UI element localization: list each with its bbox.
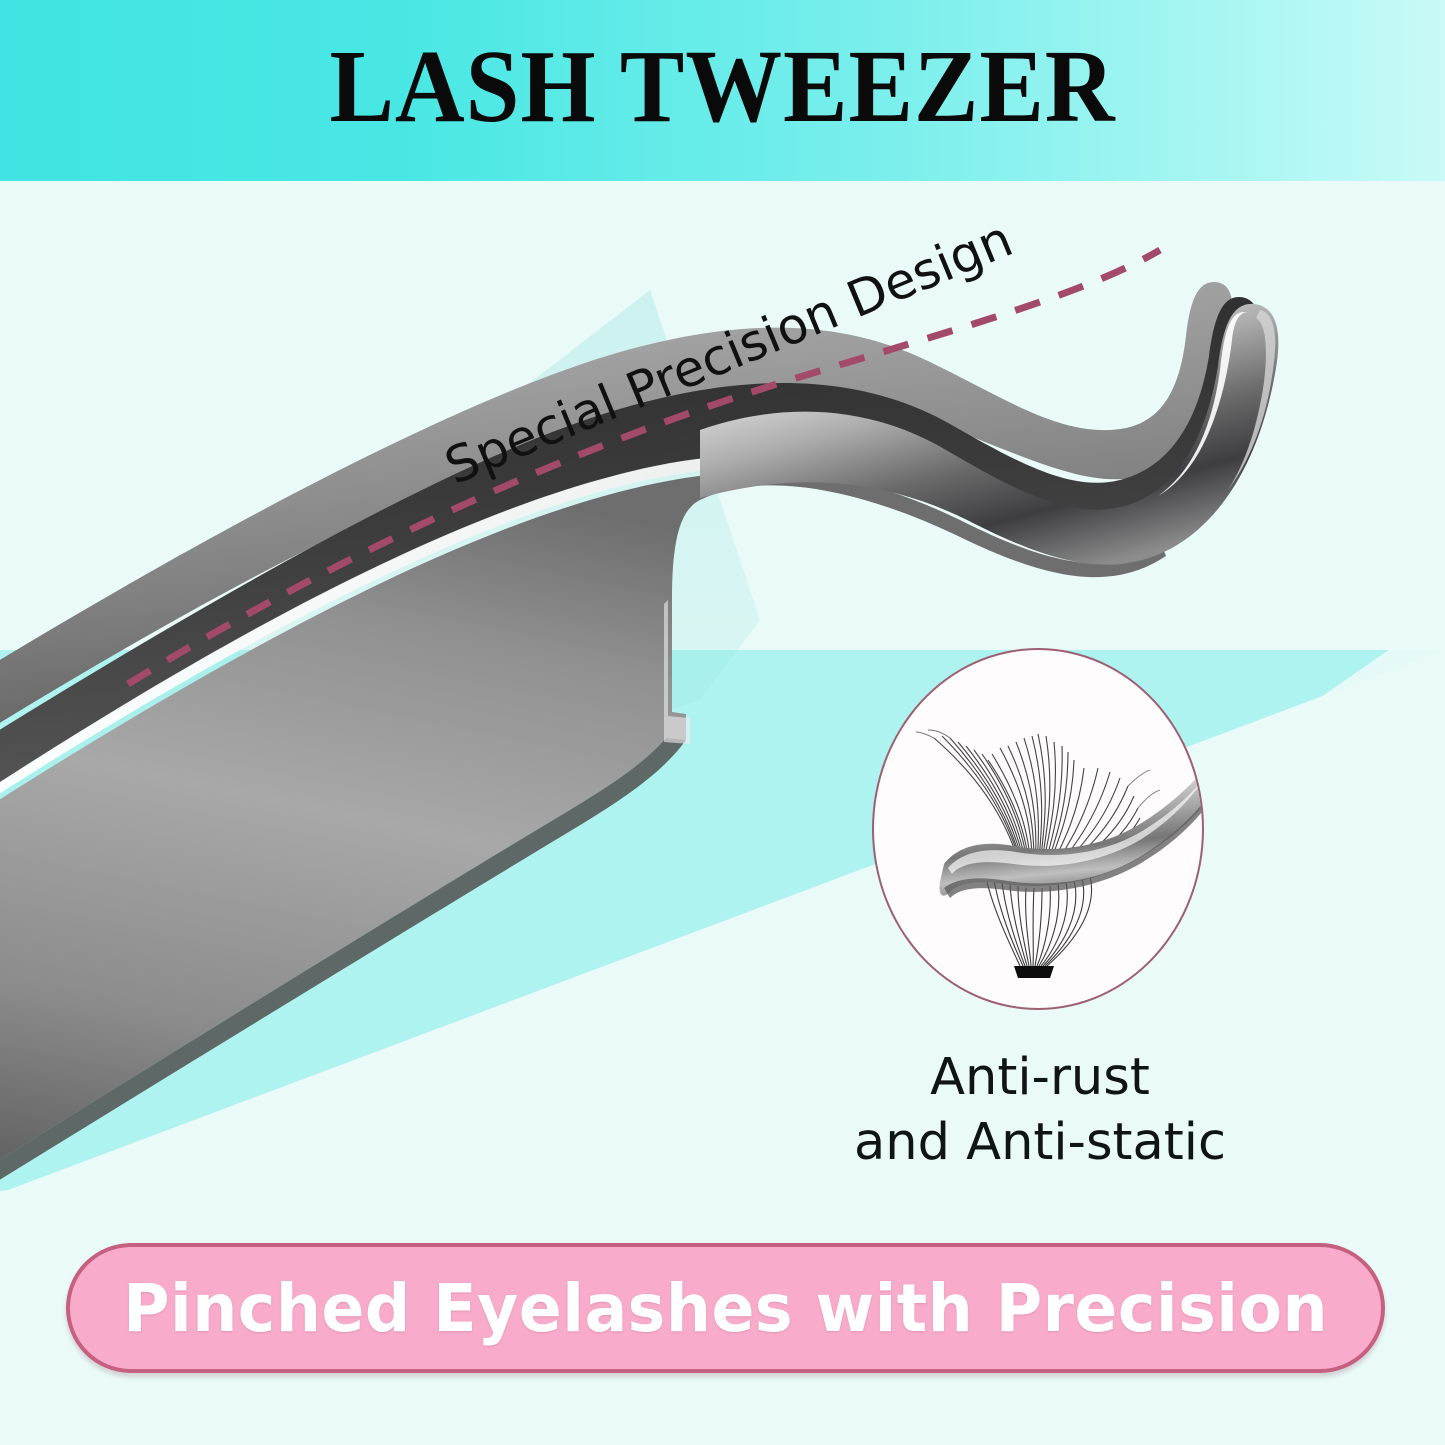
product-marketing-image: LASH TWEEZER <box>0 0 1445 1445</box>
page-title: LASH TWEEZER <box>51 0 1395 181</box>
lash-fan-illustration <box>874 650 1202 1008</box>
tagline-text: Pinched Eyelashes with Precision <box>123 1270 1328 1347</box>
lash-fan-inset <box>872 648 1204 1010</box>
inset-caption: Anti-rust and Anti-static <box>810 1046 1270 1176</box>
lash-band-base <box>1014 966 1054 978</box>
tagline-banner: Pinched Eyelashes with Precision <box>66 1243 1385 1373</box>
inset-caption-line-2: and Anti-static <box>810 1111 1270 1176</box>
inset-tweezer-tip <box>939 762 1202 898</box>
inset-caption-line-1: Anti-rust <box>810 1046 1270 1111</box>
